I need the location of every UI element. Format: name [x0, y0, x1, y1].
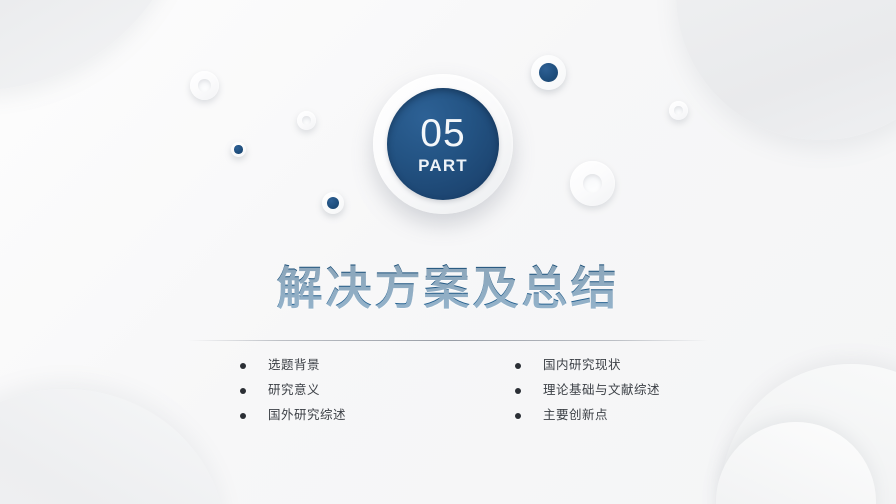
bullet-dot-icon [515, 388, 521, 394]
bullet-dot-icon [515, 413, 521, 419]
blob-bottom-right-large-decoration [721, 364, 896, 504]
list-item-label: 主要创新点 [543, 408, 608, 423]
blob-top-left-decoration [0, 0, 190, 90]
blob-bottom-left-decoration [0, 389, 225, 504]
list-item[interactable]: 理论基础与文献综述 [515, 383, 660, 398]
bullet-column-left: 选题背景 研究意义 国外研究综述 [240, 358, 346, 423]
presentation-slide: 05 PART 解决方案及总结 选题背景 研究意义 国外研究综述 国 [0, 0, 896, 504]
list-item[interactable]: 主要创新点 [515, 408, 660, 423]
dot-small-blue-icon [231, 142, 246, 157]
list-item-label: 理论基础与文献综述 [543, 383, 660, 398]
part-label: PART [418, 157, 468, 174]
part-badge-inner: 05 PART [387, 88, 499, 200]
ring-medium-right-icon [570, 161, 615, 206]
bullet-dot-icon [515, 363, 521, 369]
list-item[interactable]: 国外研究综述 [240, 408, 346, 423]
title-divider [188, 340, 708, 341]
list-item-label: 研究意义 [268, 383, 320, 398]
bullet-column-right: 国内研究现状 理论基础与文献综述 主要创新点 [495, 358, 660, 423]
list-item-label: 国外研究综述 [268, 408, 346, 423]
blob-top-right-decoration [676, 0, 896, 140]
bullet-dot-icon [240, 388, 246, 394]
dot-medium-blue-icon [322, 192, 344, 214]
list-item-label: 国内研究现状 [543, 358, 621, 373]
ring-large-left-icon [190, 71, 219, 100]
list-item[interactable]: 国内研究现状 [515, 358, 660, 373]
list-item[interactable]: 研究意义 [240, 383, 346, 398]
list-item-label: 选题背景 [268, 358, 320, 373]
list-item[interactable]: 选题背景 [240, 358, 346, 373]
blob-bottom-right-small-decoration [716, 422, 876, 504]
bullet-dot-icon [240, 363, 246, 369]
dot-blue-top-right-icon [531, 55, 566, 90]
ring-small-right-icon [669, 101, 688, 120]
part-number: 05 [420, 114, 465, 153]
slide-title: 解决方案及总结 [0, 252, 896, 318]
bullet-dot-icon [240, 413, 246, 419]
ring-small-left-icon [297, 111, 316, 130]
bullet-lists: 选题背景 研究意义 国外研究综述 国内研究现状 理论基础与文献综述 主 [240, 358, 660, 423]
part-badge: 05 PART [373, 74, 513, 214]
